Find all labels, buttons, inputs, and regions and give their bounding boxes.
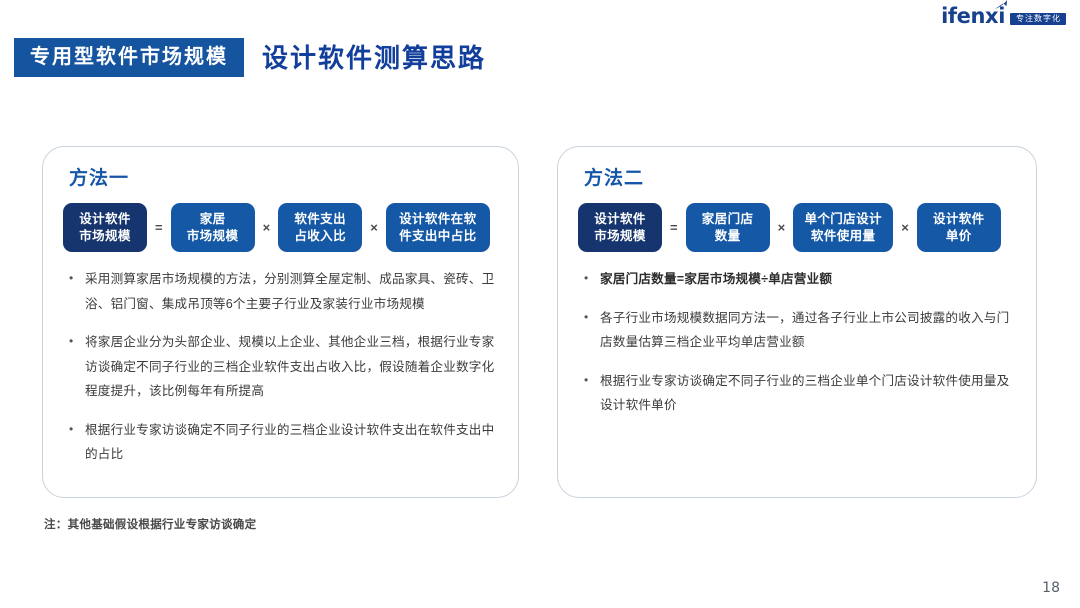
bullet-item: •将家居企业分为头部企业、规模以上企业、其他企业三档，根据行业专家访谈确定不同子… [69,330,496,404]
page-title: 设计软件测算思路 [262,45,486,71]
formula-box-6: 设计软件在软 件支出中占比 [386,203,490,252]
formula-row: 设计软件 市场规模=家居 市场规模×软件支出 占收入比×设计软件在软 件支出中占… [63,203,506,252]
formula-box-4: 软件支出 占收入比 [278,203,362,252]
formula-box-4: 单个门店设计 软件使用量 [793,203,893,252]
bullet-text: 采用测算家居市场规模的方法，分别测算全屋定制、成品家具、瓷砖、卫浴、铝门窗、集成… [85,267,496,316]
equals-operator: = [154,220,164,235]
bullet-item: •根据行业专家访谈确定不同子行业的三档企业单个门店设计软件使用量及设计软件单价 [584,369,1014,418]
slide-header: 专用型软件市场规模 设计软件测算思路 [14,38,486,77]
bullet-text: 家居门店数量=家居市场规模÷单店营业额 [600,267,1014,292]
bullet-list: •采用测算家居市场规模的方法，分别测算全屋定制、成品家具、瓷砖、卫浴、铝门窗、集… [69,267,496,481]
formula-box-0: 设计软件 市场规模 [578,203,662,252]
card-title: 方法一 [69,169,129,188]
footnote: 注：其他基础假设根据行业专家访谈确定 [44,516,256,532]
formula-box-0: 设计软件 市场规模 [63,203,147,252]
swoosh-icon [995,0,1008,11]
bullet-item: •家居门店数量=家居市场规模÷单店营业额 [584,267,1014,292]
bullet-text: 各子行业市场规模数据同方法一，通过各子行业上市公司披露的收入与门店数量估算三档企… [600,306,1014,355]
bullet-item: •根据行业专家访谈确定不同子行业的三档企业设计软件支出在软件支出中的占比 [69,418,496,467]
multiply-operator: × [777,220,787,235]
bullet-dot-icon: • [69,418,85,467]
formula-box-2: 家居门店 数量 [686,203,770,252]
bullet-dot-icon: • [584,369,600,418]
page-number: 18 [1042,580,1060,596]
bullet-text: 根据行业专家访谈确定不同子行业的三档企业单个门店设计软件使用量及设计软件单价 [600,369,1014,418]
multiply-operator: × [900,220,910,235]
logo-badge: 专注数字化 [1010,13,1066,25]
slide-root: ifenxi 专注数字化 专用型软件市场规模 设计软件测算思路 方法一 设计软件… [0,0,1080,608]
formula-box-6: 设计软件 单价 [917,203,1001,252]
bullet-dot-icon: • [584,267,600,292]
bullet-dot-icon: • [69,330,85,404]
brand-logo: ifenxi 专注数字化 [941,6,1066,27]
formula-box-2: 家居 市场规模 [171,203,255,252]
bullet-list: •家居门店数量=家居市场规模÷单店营业额•各子行业市场规模数据同方法一，通过各子… [584,267,1014,432]
method-one-card: 方法一 设计软件 市场规模=家居 市场规模×软件支出 占收入比×设计软件在软 件… [42,146,519,498]
formula-row: 设计软件 市场规模=家居门店 数量×单个门店设计 软件使用量×设计软件 单价 [578,203,1024,252]
card-title: 方法二 [584,169,644,188]
bullet-item: •各子行业市场规模数据同方法一，通过各子行业上市公司披露的收入与门店数量估算三档… [584,306,1014,355]
equals-operator: = [669,220,679,235]
logo-wordmark: ifenxi [941,6,1005,27]
bullet-text: 根据行业专家访谈确定不同子行业的三档企业设计软件支出在软件支出中的占比 [85,418,496,467]
method-two-card: 方法二 设计软件 市场规模=家居门店 数量×单个门店设计 软件使用量×设计软件 … [557,146,1037,498]
bullet-dot-icon: • [584,306,600,355]
bullet-text: 将家居企业分为头部企业、规模以上企业、其他企业三档，根据行业专家访谈确定不同子行… [85,330,496,404]
multiply-operator: × [369,220,379,235]
bullet-dot-icon: • [69,267,85,316]
section-tag: 专用型软件市场规模 [14,38,244,77]
bullet-item: •采用测算家居市场规模的方法，分别测算全屋定制、成品家具、瓷砖、卫浴、铝门窗、集… [69,267,496,316]
multiply-operator: × [262,220,272,235]
